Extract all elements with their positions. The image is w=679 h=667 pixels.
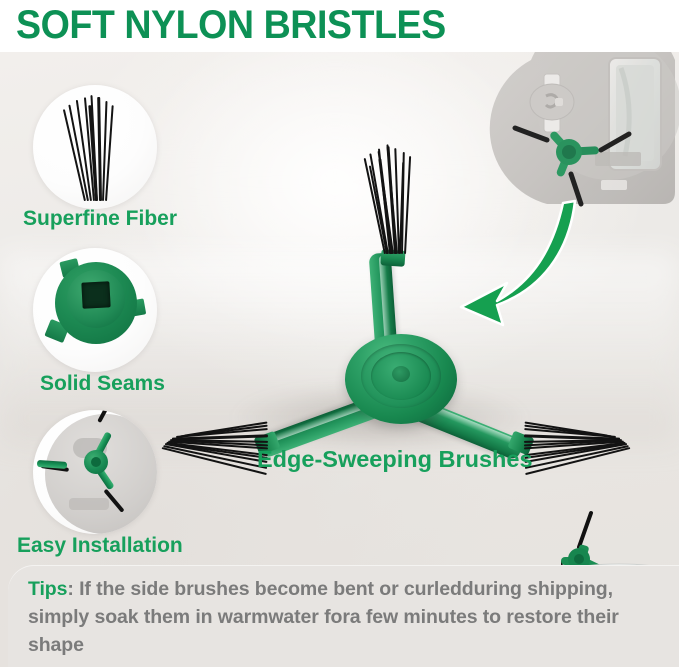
tips-keyword: Tips xyxy=(28,578,67,600)
feature-inset-solid-seams xyxy=(33,248,157,372)
bristle-fiber xyxy=(97,97,102,201)
page-title: SOFT NYLON BRISTLES xyxy=(16,2,618,48)
bristle-fiber xyxy=(63,109,86,201)
center-label-edge-sweeping-brushes: Edge-Sweeping Brushes xyxy=(257,446,533,473)
tips-text: Tips: If the side brushes become bent or… xyxy=(28,575,628,659)
brush-hub-center-dot xyxy=(91,457,101,467)
feature-label-superfine-fiber: Superfine Fiber xyxy=(23,207,177,231)
feature-inset-superfine-fiber xyxy=(33,85,157,209)
feature-label-solid-seams: Solid Seams xyxy=(40,372,165,396)
brush-hub-center-dot xyxy=(392,366,410,382)
bristle xyxy=(404,156,411,254)
feature-inset-easy-installation xyxy=(33,410,157,534)
tips-panel: Tips: If the side brushes become bent or… xyxy=(8,565,679,667)
tips-body: If the side brushes become bent or curle… xyxy=(28,578,619,656)
robot-detail xyxy=(69,498,109,510)
main-side-brush xyxy=(140,72,640,492)
hub-square-socket xyxy=(81,281,110,308)
feature-label-easy-installation: Easy Installation xyxy=(17,534,183,558)
product-feature-image: SOFT NYLON BRISTLES xyxy=(0,0,679,667)
